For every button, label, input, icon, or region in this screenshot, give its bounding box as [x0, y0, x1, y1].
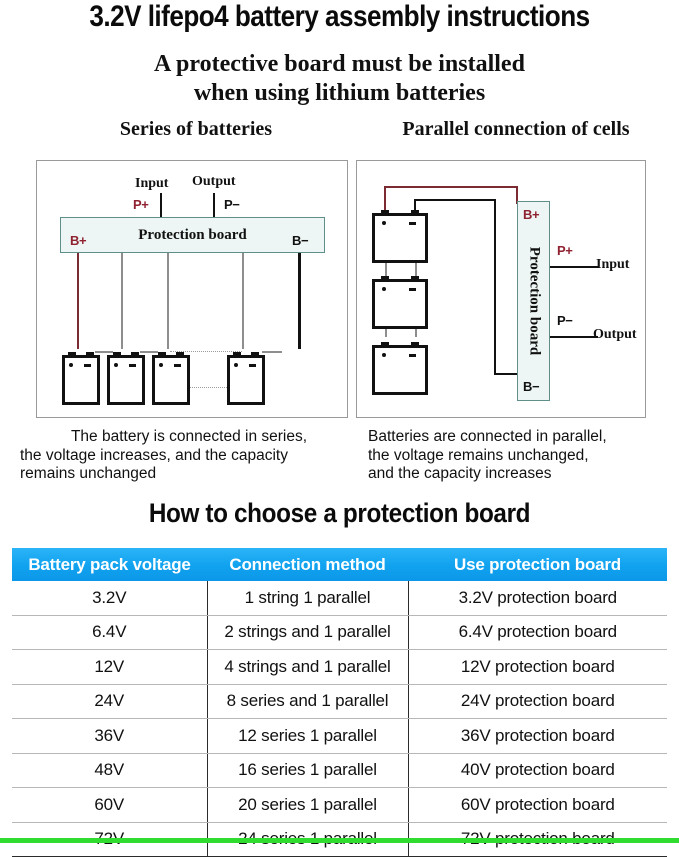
- parallel-caption-line-3: and the capacity increases: [368, 465, 668, 484]
- parallel-p-minus-label: P−: [557, 313, 572, 328]
- parallel-cell-3: [372, 345, 428, 395]
- table-title: How to choose a protection board: [34, 498, 645, 529]
- series-link-2-3: [140, 351, 158, 353]
- series-caption-line-1: The battery is connected in series,: [20, 428, 358, 447]
- cell-board: 3.2V protection board: [408, 581, 667, 615]
- series-link-4-out: [262, 351, 282, 353]
- cell-voltage: 3.2V: [12, 581, 207, 615]
- series-board-label: Protection board: [138, 227, 246, 244]
- series-caption-line-3: remains unchanged: [20, 465, 358, 484]
- series-cell-3-tab-positive: [158, 352, 166, 358]
- series-protection-board: Protection board: [60, 217, 325, 253]
- series-cell-3-minus-mark: [174, 364, 181, 367]
- parallel-caption-line-1: Batteries are connected in parallel,: [368, 428, 668, 447]
- parallel-output-label: Output: [593, 327, 637, 343]
- parallel-cell-2-tab-negative: [411, 276, 419, 282]
- series-cell-1-plus-mark: [69, 363, 73, 367]
- cell-connection: 2 strings and 1 parallel: [207, 615, 408, 650]
- parallel-p-plus-label: P+: [557, 243, 572, 258]
- series-wire-2: [121, 253, 123, 349]
- parallel-cell-2-tab-positive: [381, 276, 389, 282]
- series-cell-3: [152, 355, 190, 405]
- parallel-wire-negative-vertical: [494, 199, 496, 375]
- series-cell-3-tab-negative: [176, 352, 184, 358]
- column-header-connection: Connection method: [207, 548, 408, 581]
- cell-connection: 4 strings and 1 parallel: [207, 650, 408, 685]
- series-cell-1: [62, 355, 100, 405]
- column-header-voltage: Battery pack voltage: [12, 548, 207, 581]
- cell-voltage: 48V: [12, 753, 207, 788]
- parallel-input-label: Input: [596, 257, 629, 273]
- series-cell-4: [227, 355, 265, 405]
- cell-voltage: 36V: [12, 719, 207, 754]
- infographic-page: 3.2V lifepo4 battery assembly instructio…: [0, 0, 679, 843]
- series-cell-4-tab-positive: [233, 352, 241, 358]
- series-b-plus-label: B+: [70, 233, 86, 248]
- parallel-cell-3-tab-positive: [381, 342, 389, 348]
- series-cell-1-minus-mark: [84, 364, 91, 367]
- series-p-minus-label: P−: [224, 197, 239, 212]
- series-caption-line-2: the voltage increases, and the capacity: [20, 447, 358, 466]
- parallel-caption-line-2: the voltage remains unchanged,: [368, 447, 668, 466]
- parallel-b-plus-label: B+: [523, 207, 539, 222]
- parallel-cell-1: [372, 213, 428, 263]
- series-diagram-heading: Series of batteries: [36, 118, 356, 141]
- parallel-caption: Batteries are connected in parallel, the…: [368, 428, 668, 484]
- parallel-protection-board: Protection board: [517, 201, 550, 401]
- series-cell-4-tab-negative: [251, 352, 259, 358]
- subtitle-line-2: when using lithium batteries: [0, 79, 679, 108]
- cell-board: 36V protection board: [408, 719, 667, 754]
- parallel-cell-2-plus-mark: [382, 287, 386, 291]
- series-p-plus-lead: [160, 193, 162, 217]
- table-row: 6.4V 2 strings and 1 parallel 6.4V prote…: [12, 615, 667, 650]
- series-cell-4-plus-mark: [234, 363, 238, 367]
- cell-board: 12V protection board: [408, 650, 667, 685]
- parallel-output-lead: [550, 336, 598, 338]
- parallel-wire-positive-riser: [384, 186, 386, 212]
- parallel-wire-negative-top: [414, 199, 496, 201]
- series-input-label: Input: [135, 176, 168, 192]
- parallel-cell-2: [372, 279, 428, 329]
- cell-voltage: 24V: [12, 684, 207, 719]
- series-wire-3: [167, 253, 169, 349]
- series-cell-2-tab-positive: [113, 352, 121, 358]
- cell-connection: 1 string 1 parallel: [207, 581, 408, 615]
- parallel-cell-3-tab-negative: [411, 342, 419, 348]
- cell-board: 60V protection board: [408, 788, 667, 823]
- parallel-wire-positive-bus: [384, 186, 518, 188]
- series-cell-2: [107, 355, 145, 405]
- series-p-plus-label: P+: [133, 197, 148, 212]
- table-body: 3.2V 1 string 1 parallel 3.2V protection…: [12, 581, 667, 857]
- series-cell-3-plus-mark: [159, 363, 163, 367]
- table-row: 12V 4 strings and 1 parallel 12V protect…: [12, 650, 667, 685]
- cell-board: 24V protection board: [408, 684, 667, 719]
- series-cell-2-tab-negative: [131, 352, 139, 358]
- cell-connection: 20 series 1 parallel: [207, 788, 408, 823]
- series-cell-1-tab-negative: [86, 352, 94, 358]
- page-title: 3.2V lifepo4 battery assembly instructio…: [44, 0, 635, 34]
- series-cell-2-plus-mark: [114, 363, 118, 367]
- cell-board: 40V protection board: [408, 753, 667, 788]
- subtitle-line-1: A protective board must be installed: [0, 50, 679, 79]
- series-wire-b-plus: [77, 253, 79, 349]
- parallel-board-label: Protection board: [525, 247, 542, 355]
- parallel-cell-1-tab-positive: [381, 210, 389, 216]
- table-row: 60V 20 series 1 parallel 60V protection …: [12, 788, 667, 823]
- column-header-board: Use protection board: [408, 548, 667, 581]
- table-row: 24V 8 series and 1 parallel 24V protecti…: [12, 684, 667, 719]
- parallel-diagram: Protection board B+ B− P+ Input P− Outpu…: [356, 160, 646, 418]
- series-wire-4: [242, 253, 244, 349]
- table-row: 3.2V 1 string 1 parallel 3.2V protection…: [12, 581, 667, 615]
- cell-connection: 16 series 1 parallel: [207, 753, 408, 788]
- parallel-cell-1-plus-mark: [382, 221, 386, 225]
- cell-connection: 8 series and 1 parallel: [207, 684, 408, 719]
- page-subtitle: A protective board must be installed whe…: [0, 50, 679, 108]
- cell-connection: 12 series 1 parallel: [207, 719, 408, 754]
- table-row: 36V 12 series 1 parallel 36V protection …: [12, 719, 667, 754]
- series-link-1-2: [95, 351, 113, 353]
- parallel-cell-1-minus-mark: [409, 222, 416, 225]
- parallel-cell-3-minus-mark: [409, 354, 416, 357]
- cell-voltage: 6.4V: [12, 615, 207, 650]
- parallel-diagram-heading: Parallel connection of cells: [354, 118, 678, 141]
- table-row: 48V 16 series 1 parallel 40V protection …: [12, 753, 667, 788]
- parallel-b-minus-label: B−: [523, 379, 539, 394]
- protection-board-table: Battery pack voltage Connection method U…: [12, 548, 667, 857]
- series-output-label: Output: [192, 174, 236, 190]
- series-cell-4-minus-mark: [249, 364, 256, 367]
- parallel-cell-2-minus-mark: [409, 288, 416, 291]
- series-cell-1-tab-positive: [68, 352, 76, 358]
- series-diagram: Input Output P+ P− Protection board B+ B…: [36, 160, 348, 418]
- series-b-minus-label: B−: [292, 233, 308, 248]
- parallel-input-lead: [550, 266, 598, 268]
- series-p-minus-lead: [213, 193, 215, 217]
- cell-voltage: 12V: [12, 650, 207, 685]
- cell-board: 6.4V protection board: [408, 615, 667, 650]
- series-caption: The battery is connected in series, the …: [20, 428, 358, 484]
- parallel-cell-1-tab-negative: [411, 210, 419, 216]
- bottom-accent-bar: [0, 838, 679, 843]
- table-header-row: Battery pack voltage Connection method U…: [12, 548, 667, 581]
- series-wire-b-minus: [298, 253, 301, 349]
- cell-voltage: 60V: [12, 788, 207, 823]
- series-cell-2-minus-mark: [129, 364, 136, 367]
- parallel-cell-3-plus-mark: [382, 353, 386, 357]
